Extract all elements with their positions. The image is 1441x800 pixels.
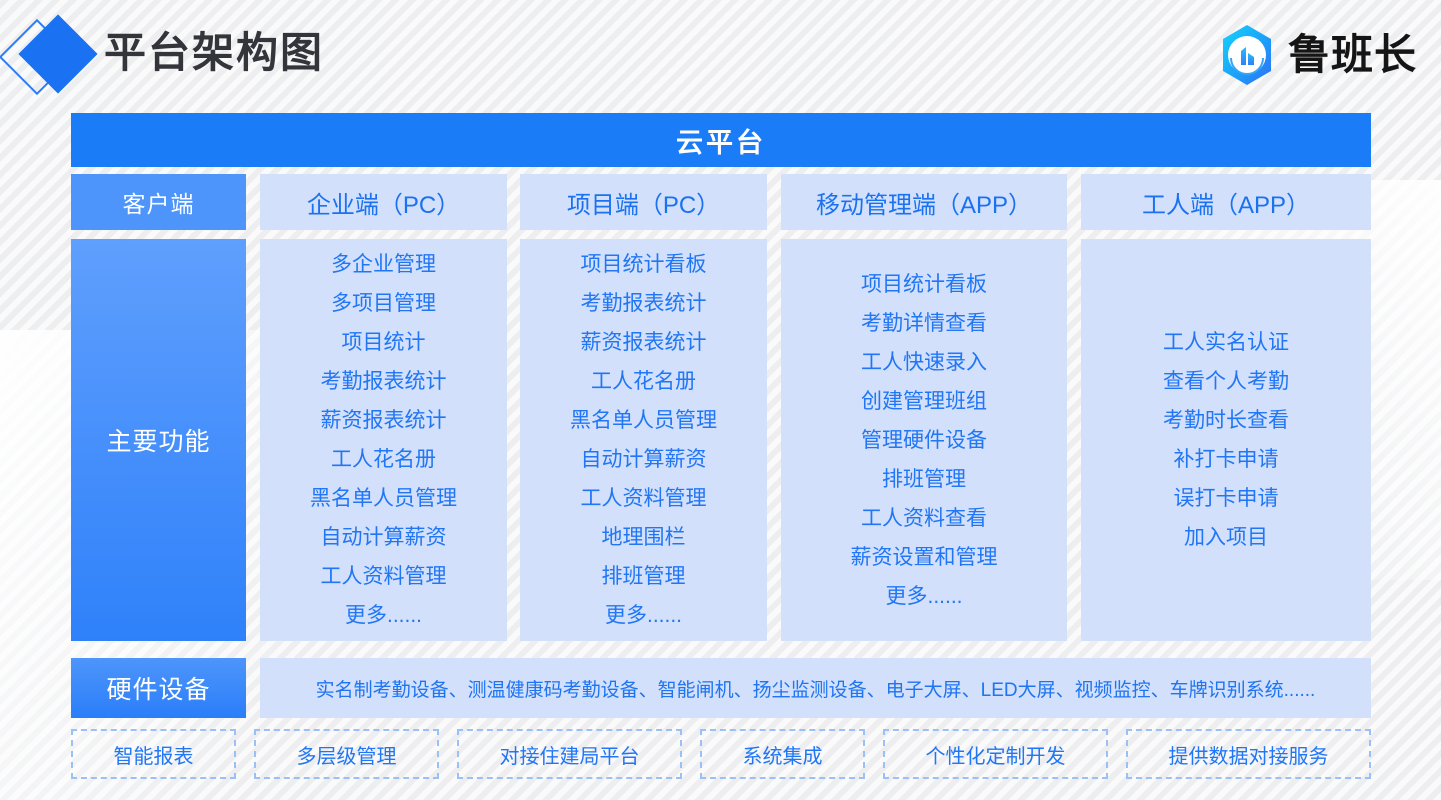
hardware-devices-box: 实名制考勤设备、测温健康码考勤设备、智能闸机、扬尘监测设备、电子大屏、LED大屏… [260,658,1371,718]
architecture-diagram-page: 平台架构图 [0,0,1441,800]
row-label-main-functions-text: 主要功能 [106,422,210,458]
feature-item: 考勤报表统计 [581,284,707,323]
column-header-mobile-admin[interactable]: 移动管理端（APP） [781,174,1067,230]
service-tag-label: 提供数据对接服务 [1169,740,1329,769]
feature-item: 多项目管理 [331,284,436,323]
column-header-worker[interactable]: 工人端（APP） [1081,174,1371,230]
service-tag-custom-development[interactable]: 个性化定制开发 [883,729,1108,779]
hexagon-building-icon [1218,24,1276,86]
feature-item: 项目统计 [342,323,426,362]
service-tag-system-integration[interactable]: 系统集成 [700,729,865,779]
service-tags-row: 智能报表 多层级管理 对接住建局平台 系统集成 个性化定制开发 提供数据对接服务 [71,729,1371,779]
cloud-platform-label: 云平台 [676,121,766,160]
feature-item: 工人花名册 [331,440,436,479]
column-header-mobile-admin-text: 移动管理端（APP） [816,185,1032,220]
feature-item: 黑名单人员管理 [310,479,457,518]
feature-item: 补打卡申请 [1174,440,1279,479]
service-tag-multilevel-management[interactable]: 多层级管理 [254,729,439,779]
feature-item: 薪资报表统计 [581,323,707,362]
feature-item: 薪资设置和管理 [851,538,998,577]
cloud-platform-bar: 云平台 [71,113,1371,167]
feature-list-mobile-admin: 项目统计看板 考勤详情查看 工人快速录入 创建管理班组 管理硬件设备 排班管理 … [781,239,1067,641]
feature-item: 自动计算薪资 [581,440,707,479]
feature-list-enterprise: 多企业管理 多项目管理 项目统计 考勤报表统计 薪资报表统计 工人花名册 黑名单… [260,239,507,641]
row-label-client-text: 客户端 [123,185,195,219]
feature-item: 考勤时长查看 [1163,401,1289,440]
feature-item-more: 更多...... [605,596,682,635]
brand-logo: 鲁班长 [1218,24,1417,86]
feature-item: 工人资料管理 [581,479,707,518]
feature-item: 管理硬件设备 [861,421,987,460]
feature-item: 地理围栏 [602,518,686,557]
service-tag-label: 智能报表 [114,740,194,769]
feature-item: 多企业管理 [331,245,436,284]
feature-item: 加入项目 [1184,518,1268,557]
row-label-main-functions: 主要功能 [71,239,246,641]
feature-item: 误打卡申请 [1174,479,1279,518]
service-tag-smart-report[interactable]: 智能报表 [71,729,236,779]
feature-item: 项目统计看板 [861,265,987,304]
service-tag-data-integration-service[interactable]: 提供数据对接服务 [1126,729,1371,779]
feature-item: 工人资料查看 [861,499,987,538]
feature-list-project: 项目统计看板 考勤报表统计 薪资报表统计 工人花名册 黑名单人员管理 自动计算薪… [520,239,767,641]
diamond-logo-icon [8,16,104,96]
feature-item: 排班管理 [602,557,686,596]
feature-item: 工人实名认证 [1163,323,1289,362]
service-tag-label: 对接住建局平台 [500,740,640,769]
feature-item: 创建管理班组 [861,382,987,421]
column-header-enterprise[interactable]: 企业端（PC） [260,174,507,230]
row-label-client: 客户端 [71,174,246,230]
service-tag-label: 个性化定制开发 [926,740,1066,769]
feature-item: 工人花名册 [591,362,696,401]
feature-item: 项目统计看板 [581,245,707,284]
column-header-worker-text: 工人端（APP） [1142,185,1310,220]
feature-item: 薪资报表统计 [321,401,447,440]
feature-item: 排班管理 [882,460,966,499]
service-tag-gov-platform-integration[interactable]: 对接住建局平台 [457,729,682,779]
feature-item: 工人快速录入 [861,343,987,382]
feature-item: 黑名单人员管理 [570,401,717,440]
feature-list-worker: 工人实名认证 查看个人考勤 考勤时长查看 补打卡申请 误打卡申请 加入项目 [1081,239,1371,641]
service-tag-label: 多层级管理 [297,740,397,769]
page-header: 平台架构图 [0,0,1441,106]
service-tag-label: 系统集成 [743,740,823,769]
feature-item: 考勤详情查看 [861,304,987,343]
feature-item: 查看个人考勤 [1163,362,1289,401]
feature-item-more: 更多...... [345,596,422,635]
feature-item-more: 更多...... [885,577,962,616]
hexagon-building-svg [1218,24,1276,86]
column-header-project[interactable]: 项目端（PC） [520,174,767,230]
hardware-devices-text: 实名制考勤设备、测温健康码考勤设备、智能闸机、扬尘监测设备、电子大屏、LED大屏… [316,675,1316,702]
row-label-hardware: 硬件设备 [71,658,246,718]
column-header-enterprise-text: 企业端（PC） [307,185,460,220]
feature-item: 工人资料管理 [321,557,447,596]
row-label-hardware-text: 硬件设备 [106,670,210,706]
feature-item: 考勤报表统计 [321,362,447,401]
feature-item: 自动计算薪资 [321,518,447,557]
column-header-project-text: 项目端（PC） [567,185,720,220]
brand-name: 鲁班长 [1288,31,1417,79]
page-title: 平台架构图 [104,26,324,80]
